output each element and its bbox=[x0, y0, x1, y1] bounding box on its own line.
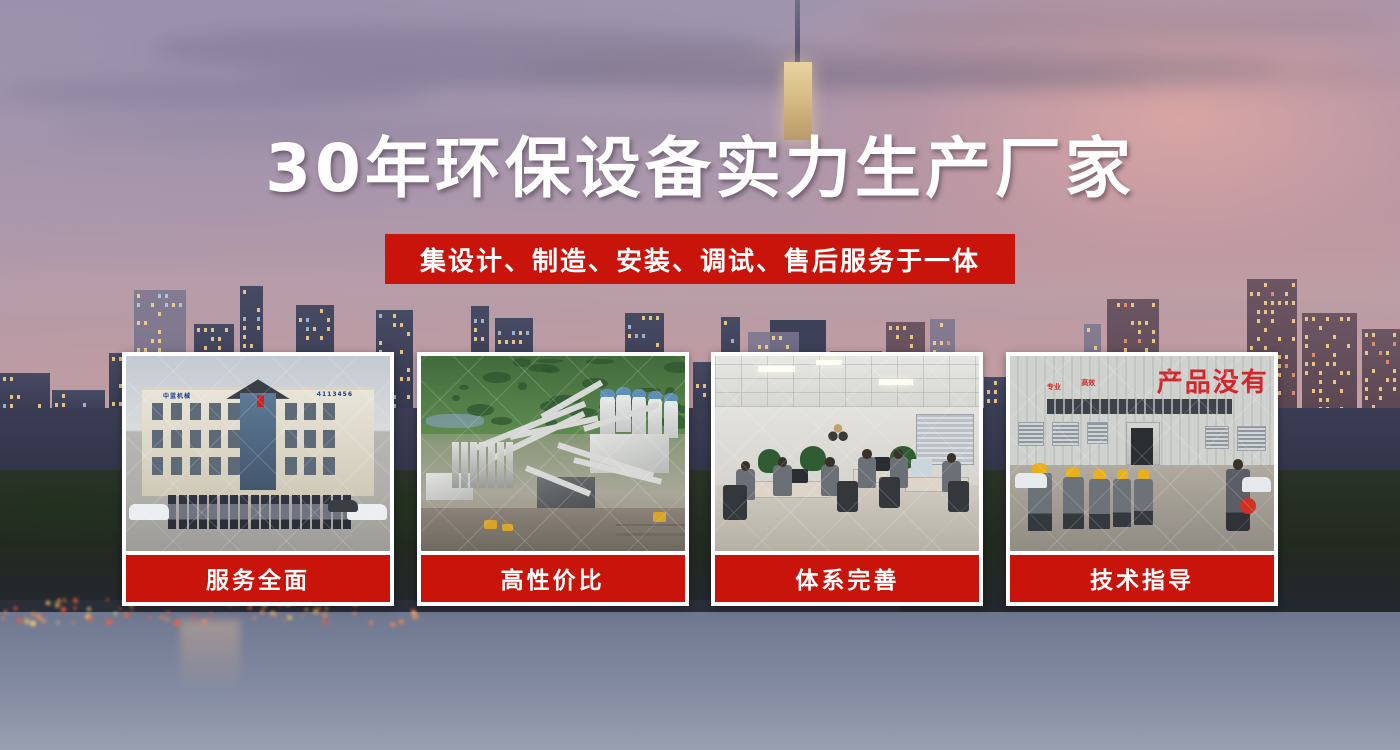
subtitle-banner: 集设计、制造、安装、调试、售后服务于一体 bbox=[385, 234, 1015, 284]
photo4-entry bbox=[1131, 428, 1152, 465]
photo1-phone-number: 4113456 bbox=[317, 391, 353, 398]
photo1-base: 中蓝机械 4113456 bbox=[126, 356, 390, 551]
photo4-base: 产品没有 专业 高效 bbox=[1010, 356, 1274, 551]
photo2-pond bbox=[426, 414, 484, 428]
photo3-base bbox=[715, 356, 979, 551]
card-caption-bar: 技术指导 bbox=[1010, 555, 1274, 602]
photo2-yard bbox=[421, 508, 685, 551]
page-title: 30年环保设备实力生产厂家 bbox=[0, 132, 1400, 206]
card-photo-headquarters: 中蓝机械 4113456 bbox=[126, 356, 390, 551]
photo4-slogan-1: 专业 bbox=[1047, 383, 1061, 392]
feature-card-training[interactable]: 产品没有 专业 高效 技术指导 bbox=[1006, 352, 1278, 606]
feature-card-value[interactable]: 高性价比 bbox=[417, 352, 689, 606]
card-photo-factory: 产品没有 专业 高效 bbox=[1010, 356, 1274, 551]
photo1-glass-atrium bbox=[240, 393, 277, 490]
card-caption-bar: 体系完善 bbox=[715, 555, 979, 602]
photo4-strip-windows bbox=[1047, 399, 1232, 415]
card-photo-plant bbox=[421, 356, 685, 551]
photo4-slogan-2: 高效 bbox=[1081, 379, 1095, 388]
card-caption-text: 技术指导 bbox=[1090, 561, 1194, 595]
photo4-factory-sign: 产品没有 bbox=[1157, 362, 1269, 399]
card-caption-bar: 服务全面 bbox=[126, 555, 390, 602]
photo1-company-sign: 中蓝机械 bbox=[163, 391, 191, 400]
card-photo-office bbox=[715, 356, 979, 551]
card-caption-text: 体系完善 bbox=[795, 561, 899, 595]
photo3-ceiling-grid bbox=[715, 356, 979, 407]
feature-card-system[interactable]: 体系完善 bbox=[711, 352, 983, 606]
feature-card-row: 中蓝机械 4113456 服务全面 bbox=[122, 352, 1278, 606]
photo2-base bbox=[421, 356, 685, 551]
card-caption-text: 服务全面 bbox=[206, 561, 310, 595]
feature-card-service[interactable]: 中蓝机械 4113456 服务全面 bbox=[122, 352, 394, 606]
water-reflection bbox=[180, 620, 240, 690]
photo3-window-blinds bbox=[916, 414, 974, 465]
photo1-flag bbox=[257, 395, 264, 407]
card-caption-bar: 高性价比 bbox=[421, 555, 685, 602]
promotional-banner: 30年环保设备实力生产厂家 集设计、制造、安装、调试、售后服务于一体 中蓝机械 … bbox=[0, 0, 1400, 750]
card-caption-text: 高性价比 bbox=[501, 561, 605, 595]
subtitle-text: 集设计、制造、安装、调试、售后服务于一体 bbox=[420, 241, 980, 278]
